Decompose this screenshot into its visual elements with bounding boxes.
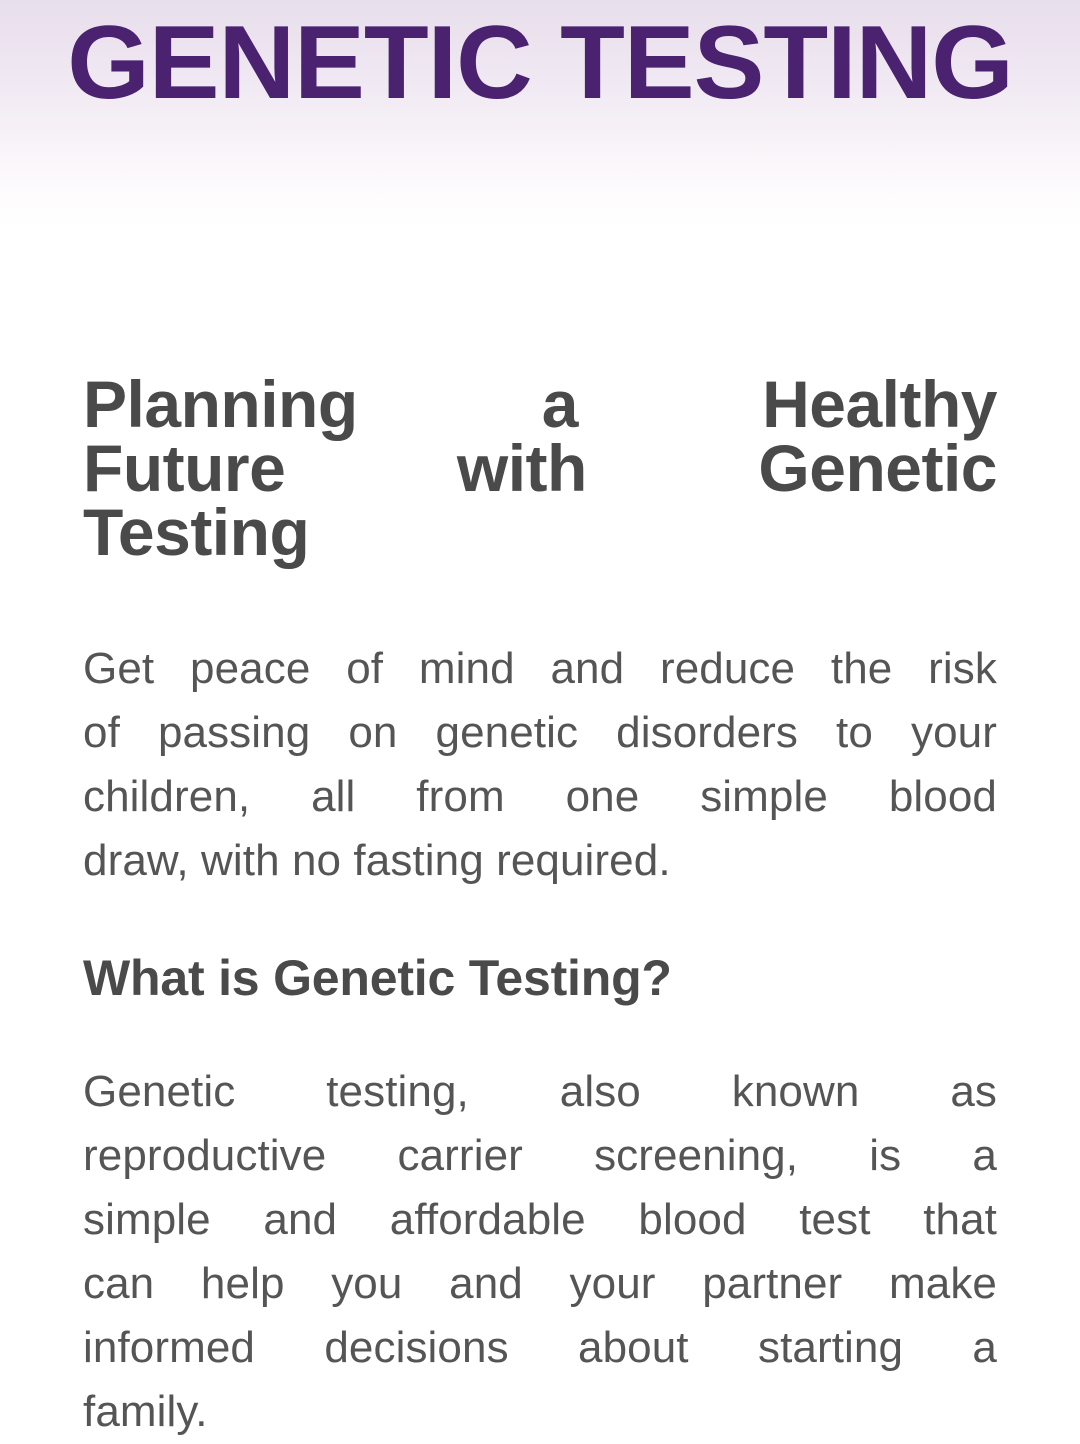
article-heading-line: Planning a Healthy <box>83 372 997 436</box>
article-heading: Planning a Healthy Future with Genetic T… <box>83 372 997 564</box>
section-heading-what-is-genetic-testing: What is Genetic Testing? <box>83 948 997 1008</box>
paragraph-line: family. <box>83 1380 997 1444</box>
paragraph-line: draw, with no fasting required. <box>83 829 997 893</box>
paragraph-line: Get peace of mind and reduce the risk <box>83 637 997 701</box>
article-heading-line: Future with Genetic <box>83 436 997 500</box>
definition-paragraph: Genetic testing, also known as reproduct… <box>83 1060 997 1444</box>
paragraph-line: reproductive carrier screening, is a <box>83 1124 997 1188</box>
page-title: GENETIC TESTING <box>0 8 1080 118</box>
paragraph-line: informed decisions about starting a <box>83 1316 997 1380</box>
paragraph-line: can help you and your partner make <box>83 1252 997 1316</box>
article-heading-line: Testing <box>83 500 997 564</box>
paragraph-line: Genetic testing, also known as <box>83 1060 997 1124</box>
article-content: Planning a Healthy Future with Genetic T… <box>83 372 997 1444</box>
paragraph-line: of passing on genetic disorders to your <box>83 701 997 765</box>
paragraph-line: children, all from one simple blood <box>83 765 997 829</box>
intro-paragraph: Get peace of mind and reduce the risk of… <box>83 637 997 893</box>
page-header-banner: GENETIC TESTING <box>0 0 1080 230</box>
paragraph-line: simple and affordable blood test that <box>83 1188 997 1252</box>
